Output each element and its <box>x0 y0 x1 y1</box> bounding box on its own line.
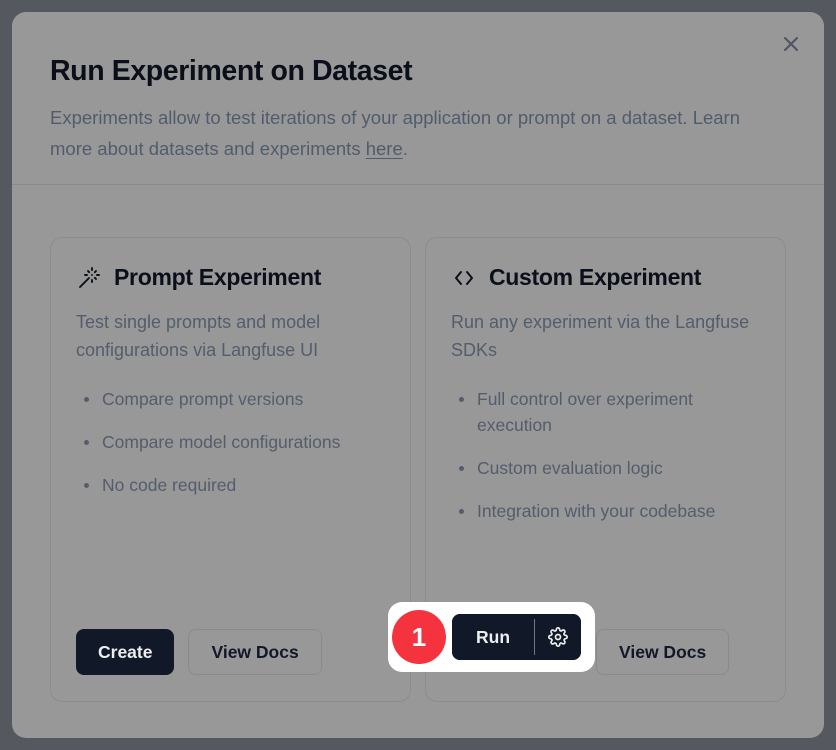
gear-icon <box>548 627 568 647</box>
view-docs-button-prompt[interactable]: View Docs <box>188 629 321 675</box>
list-item: Integration with your codebase <box>451 498 760 524</box>
list-item: Compare prompt versions <box>76 386 385 412</box>
page-title: Run Experiment on Dataset <box>50 54 412 88</box>
card-description: Test single prompts and model configurat… <box>76 308 385 364</box>
magic-wand-icon <box>76 265 102 291</box>
run-split-button[interactable]: Run <box>452 614 581 660</box>
create-button[interactable]: Create <box>76 629 174 675</box>
dialog-description: Experiments allow to test iterations of … <box>50 102 750 164</box>
card-prompt-experiment[interactable]: Prompt Experiment Test single prompts an… <box>50 237 411 702</box>
close-icon <box>781 34 801 54</box>
card-header: Prompt Experiment <box>76 264 385 292</box>
list-item: Custom evaluation logic <box>451 455 760 481</box>
card-feature-list: Compare prompt versions Compare model co… <box>76 386 385 498</box>
card-feature-list: Full control over experiment execution C… <box>451 386 760 524</box>
list-item: Compare model configurations <box>76 429 385 455</box>
view-docs-button-custom[interactable]: View Docs <box>596 629 729 675</box>
card-title: Prompt Experiment <box>114 264 321 292</box>
code-brackets-icon <box>451 265 477 291</box>
card-description: Run any experiment via the Langfuse SDKs <box>451 308 760 364</box>
run-button[interactable]: Run <box>452 614 534 660</box>
card-title: Custom Experiment <box>489 264 701 292</box>
dialog-header: Run Experiment on Dataset Experiments al… <box>12 12 824 185</box>
card-actions: Create View Docs <box>76 629 385 675</box>
list-item: No code required <box>76 472 385 498</box>
dialog-description-period: . <box>403 138 408 159</box>
close-button[interactable] <box>776 29 806 59</box>
card-header: Custom Experiment <box>451 264 760 292</box>
learn-more-link[interactable]: here <box>366 138 403 159</box>
run-settings-button[interactable] <box>535 614 581 660</box>
list-item: Full control over experiment execution <box>451 386 760 438</box>
step-badge: 1 <box>392 610 446 664</box>
